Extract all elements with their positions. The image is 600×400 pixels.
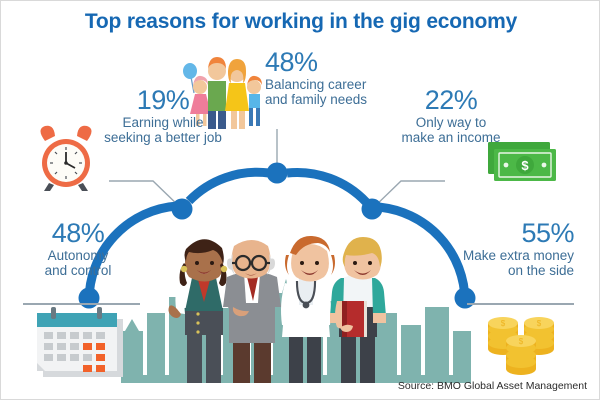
callout-earning-percent: 19% bbox=[93, 87, 233, 115]
divider-left bbox=[23, 303, 140, 305]
callout-earning: 19% Earning while seeking a better job bbox=[93, 87, 233, 146]
callout-autonomy: 48% Autonomy and control bbox=[19, 220, 137, 279]
divider-right bbox=[467, 303, 574, 305]
coin-stacks-icon: $ $ $ bbox=[488, 317, 554, 375]
callout-earning-line1: Earning while bbox=[93, 115, 233, 131]
infographic-canvas: Top reasons for working in the gig econo… bbox=[0, 0, 600, 400]
callout-extra-line2: on the side bbox=[409, 263, 574, 279]
svg-text:$: $ bbox=[519, 337, 524, 346]
calendar-icon bbox=[37, 307, 123, 377]
alarm-clock-icon bbox=[41, 126, 92, 191]
callout-onlyway-line2: make an income bbox=[393, 130, 509, 146]
callout-onlyway: 22% Only way to make an income bbox=[393, 87, 509, 146]
callout-autonomy-percent: 48% bbox=[19, 220, 137, 248]
banknotes-icon: $ bbox=[488, 142, 556, 181]
callout-extra-line1: Make extra money bbox=[409, 248, 574, 264]
svg-text:$: $ bbox=[521, 158, 529, 173]
coin-stack-front: $ bbox=[506, 335, 536, 375]
callout-onlyway-line1: Only way to bbox=[393, 115, 509, 131]
callout-balancing-line2: and family needs bbox=[265, 92, 405, 108]
callout-extra: 55% Make extra money on the side bbox=[409, 220, 574, 279]
callout-earning-line2: seeking a better job bbox=[93, 130, 233, 146]
callout-balancing-line1: Balancing career bbox=[265, 77, 405, 93]
svg-text:$: $ bbox=[537, 319, 542, 328]
svg-text:$: $ bbox=[501, 319, 506, 328]
callout-onlyway-percent: 22% bbox=[393, 87, 509, 115]
source-attribution: Source: BMO Global Asset Management bbox=[398, 380, 587, 392]
callout-autonomy-line1: Autonomy bbox=[19, 248, 137, 264]
callout-extra-percent: 55% bbox=[409, 220, 574, 248]
callout-balancing-percent: 48% bbox=[265, 49, 405, 77]
callout-balancing: 48% Balancing career and family needs bbox=[265, 49, 405, 108]
callout-autonomy-line2: and control bbox=[19, 263, 137, 279]
